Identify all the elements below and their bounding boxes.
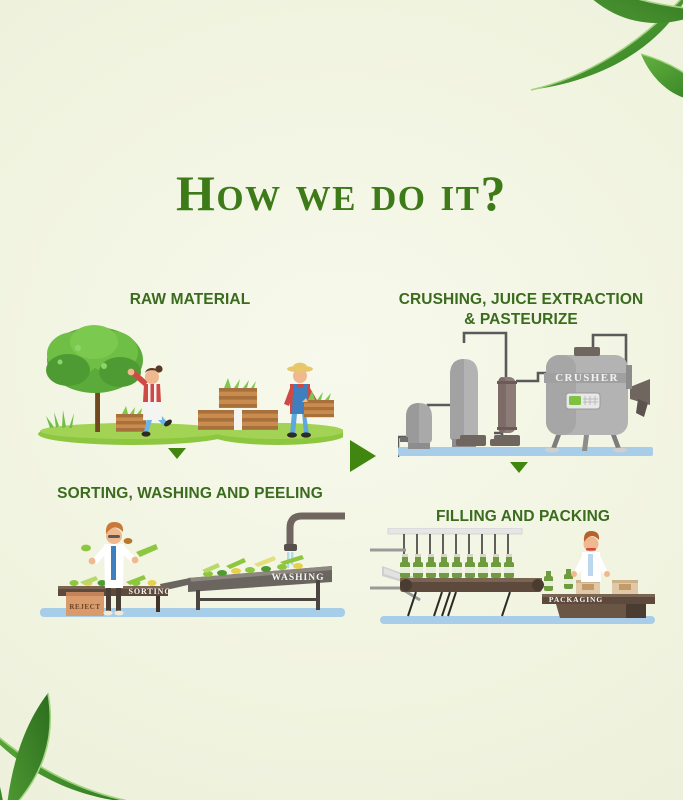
step-label-crushing: CRUSHING, JUICE EXTRACTION & PASTEURIZE: [390, 290, 652, 330]
step-label-sorting: SORTING, WASHING AND PEELING: [30, 484, 350, 504]
arrow-right-icon-left-to-right: [350, 440, 376, 472]
step-label-raw-material: RAW MATERIAL: [55, 290, 325, 310]
bottle-row: [400, 554, 514, 578]
process-infographic-poster: How we do it? RAW MATERIAL CRUSHING, JUI…: [0, 0, 683, 800]
illustration-sorting-washing: WASHING: [40, 508, 345, 623]
neem-leaves-top-right-icon: [523, 0, 683, 138]
reject-box-label: REJECT: [69, 603, 100, 611]
illustration-crushing-machinery: CRUSHER: [398, 325, 653, 465]
neem-leaves-bottom-left-icon: [0, 675, 152, 800]
arrow-down-icon-raw-to-sorting: [168, 448, 186, 459]
illustration-raw-material: [38, 322, 343, 447]
sorting-conveyor-label: SORTING: [129, 587, 172, 596]
crusher-machine-label: CRUSHER: [555, 372, 619, 384]
packaging-station-label: PACKAGING: [549, 595, 603, 604]
page-title: How we do it?: [0, 168, 683, 218]
step-label-filling: FILLING AND PACKING: [395, 507, 651, 527]
step-label-crushing-line1: CRUSHING, JUICE EXTRACTION: [390, 290, 652, 310]
illustration-filling-packing: PACKAGING: [370, 528, 655, 628]
